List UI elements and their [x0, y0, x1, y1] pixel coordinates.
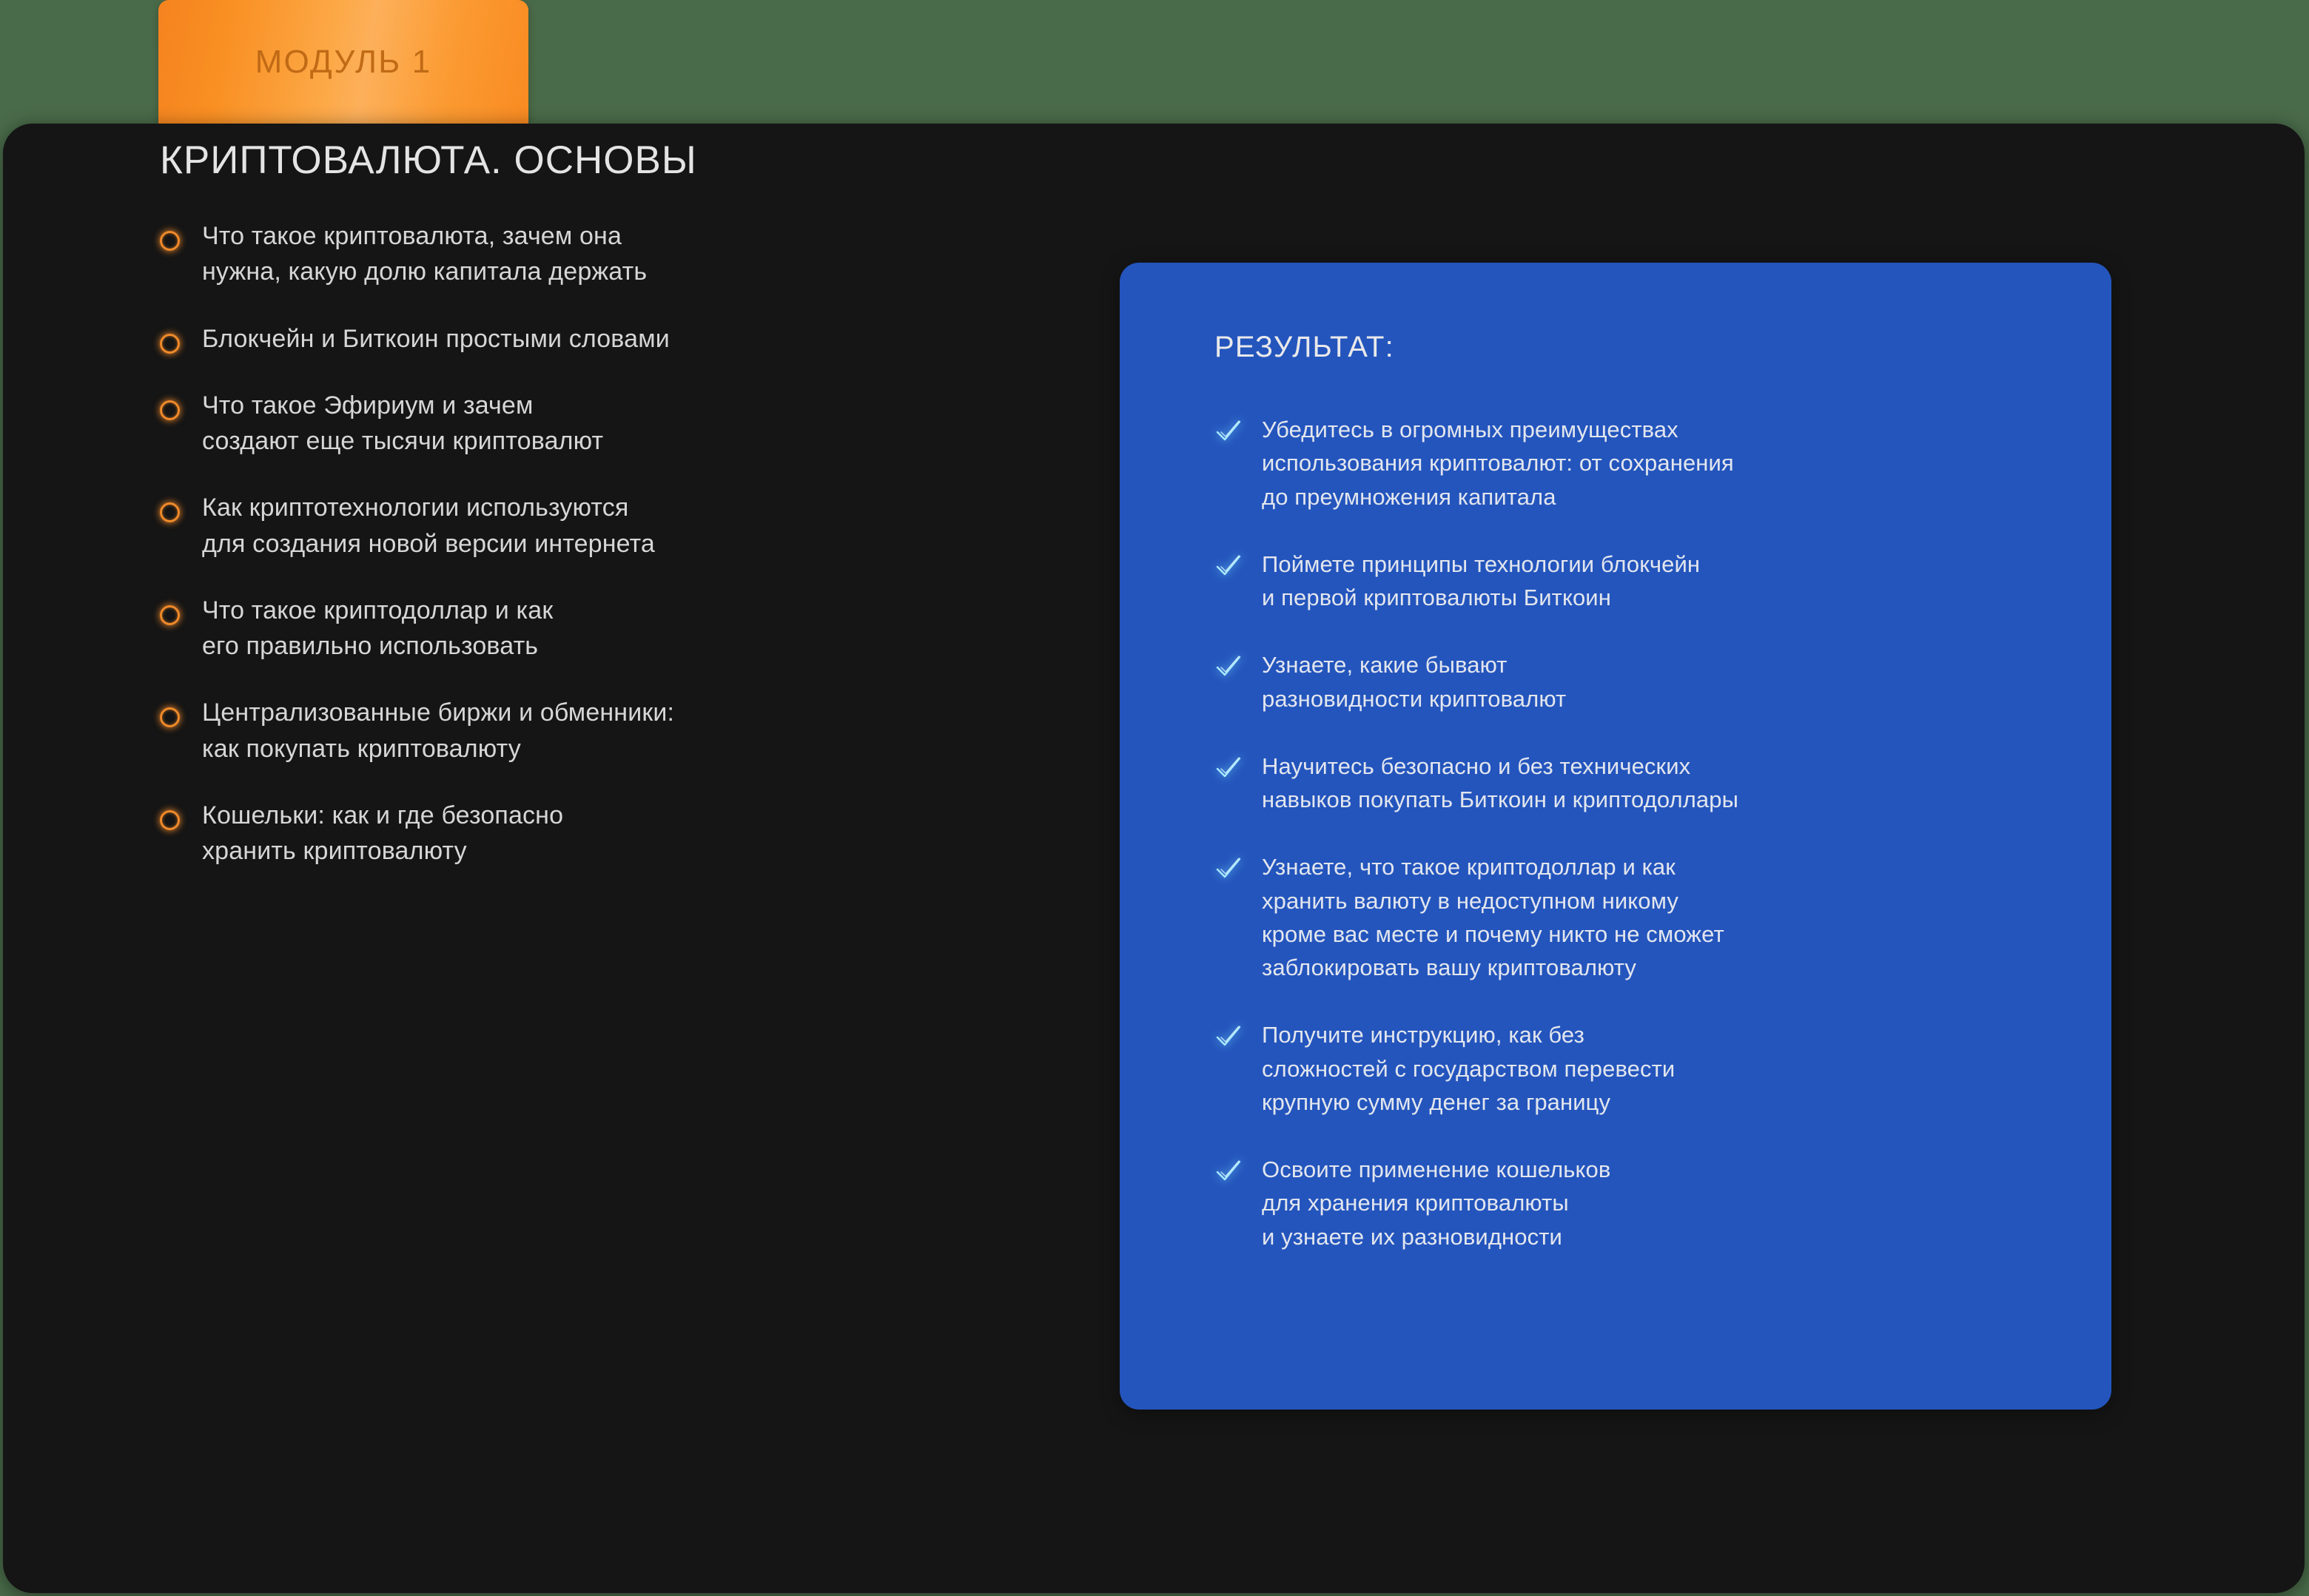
- check-mark-icon: [1214, 1023, 1243, 1051]
- check-mark-icon: [1214, 417, 1243, 445]
- circle-ring-icon: [160, 231, 180, 251]
- check-mark-icon: [1214, 552, 1243, 580]
- circle-ring-icon: [160, 400, 180, 420]
- topic-list: Что такое криптовалюта, зачем она нужна,…: [160, 218, 996, 869]
- circle-ring-icon: [160, 502, 180, 522]
- list-item: Поймете принципы технологии блокчейн и п…: [1214, 548, 2067, 615]
- check-mark-icon: [1214, 754, 1243, 782]
- list-item: Как криптотехнологии используются для со…: [160, 490, 996, 562]
- list-item-label: Освоите применение кошельков для хранени…: [1262, 1153, 1610, 1253]
- list-item: Что такое криптодоллар и как его правиль…: [160, 593, 996, 664]
- list-item-label: Блокчейн и Биткоин простыми словами: [202, 321, 670, 357]
- module-content-column: КРИПТОВАЛЮТА. ОСНОВЫ Что такое криптовал…: [160, 138, 996, 900]
- list-item: Узнаете, какие бывают разновидности крип…: [1214, 648, 2067, 715]
- result-list: Убедитесь в огромных преимуществах испол…: [1214, 413, 2067, 1253]
- check-mark-icon: [1214, 855, 1243, 883]
- result-panel: РЕЗУЛЬТАТ: Убедитесь в огромных преимуще…: [1120, 263, 2111, 1410]
- check-mark-icon: [1214, 1157, 1243, 1185]
- page-title: КРИПТОВАЛЮТА. ОСНОВЫ: [160, 138, 996, 183]
- list-item-label: Централизованные биржи и обменники: как …: [202, 695, 674, 767]
- list-item-label: Что такое криптовалюта, зачем она нужна,…: [202, 218, 647, 290]
- list-item: Централизованные биржи и обменники: как …: [160, 695, 996, 767]
- list-item-label: Убедитесь в огромных преимуществах испол…: [1262, 413, 1734, 514]
- circle-ring-icon: [160, 605, 180, 625]
- list-item: Освоите применение кошельков для хранени…: [1214, 1153, 2067, 1253]
- list-item-label: Что такое Эфириум и зачем создают еще ты…: [202, 388, 603, 459]
- list-item: Научитесь безопасно и без технических на…: [1214, 750, 2067, 817]
- list-item: Что такое криптовалюта, зачем она нужна,…: [160, 218, 996, 290]
- list-item-label: Поймете принципы технологии блокчейн и п…: [1262, 548, 1700, 615]
- list-item-label: Узнаете, какие бывают разновидности крип…: [1262, 648, 1566, 715]
- circle-ring-icon: [160, 810, 180, 830]
- list-item-label: Узнаете, что такое криптодоллар и как хр…: [1262, 850, 1724, 984]
- list-item-label: Кошельки: как и где безопасно хранить кр…: [202, 798, 563, 869]
- list-item-label: Научитесь безопасно и без технических на…: [1262, 750, 1738, 817]
- circle-ring-icon: [160, 707, 180, 727]
- list-item: Что такое Эфириум и зачем создают еще ты…: [160, 388, 996, 459]
- list-item: Блокчейн и Биткоин простыми словами: [160, 321, 996, 357]
- module-tab-label: МОДУЛЬ 1: [255, 44, 432, 81]
- list-item: Получите инструкцию, как без сложностей …: [1214, 1018, 2067, 1119]
- list-item-label: Как криптотехнологии используются для со…: [202, 490, 655, 562]
- list-item: Убедитесь в огромных преимуществах испол…: [1214, 413, 2067, 514]
- result-panel-title: РЕЗУЛЬТАТ:: [1214, 331, 2067, 364]
- list-item-label: Что такое криптодоллар и как его правиль…: [202, 593, 553, 664]
- check-mark-icon: [1214, 653, 1243, 681]
- list-item-label: Получите инструкцию, как без сложностей …: [1262, 1018, 1675, 1119]
- module-tab[interactable]: МОДУЛЬ 1: [158, 0, 528, 124]
- list-item: Узнаете, что такое криптодоллар и как хр…: [1214, 850, 2067, 984]
- list-item: Кошельки: как и где безопасно хранить кр…: [160, 798, 996, 869]
- circle-ring-icon: [160, 334, 180, 354]
